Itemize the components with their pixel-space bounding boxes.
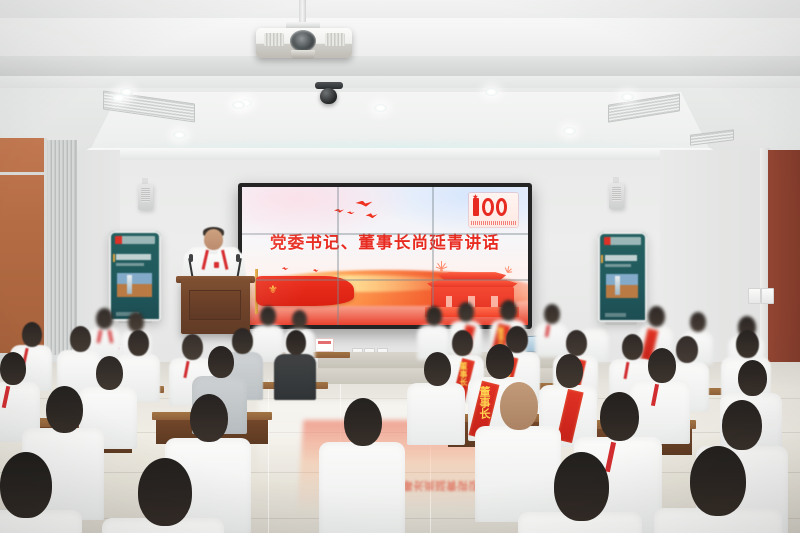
person-head	[622, 334, 643, 360]
wall-speaker	[609, 183, 624, 209]
ceiling-downlight	[120, 88, 133, 96]
banner-frame	[109, 231, 161, 321]
gate-upper-roof	[438, 272, 506, 281]
person-head	[648, 348, 676, 383]
person-head	[260, 306, 276, 326]
person-head	[486, 344, 514, 379]
ceiling-band	[0, 56, 800, 78]
person-head	[286, 330, 306, 355]
person-torso	[407, 383, 465, 445]
roll-up-banner-left	[109, 231, 161, 321]
dome-camera-icon	[320, 88, 337, 104]
person-head	[452, 330, 473, 356]
ceiling-downlight	[173, 131, 186, 139]
person-torso	[274, 354, 316, 400]
person-head	[736, 330, 759, 358]
microphone-head	[236, 254, 240, 262]
ceiling-downlight	[232, 101, 245, 109]
person-head	[344, 398, 382, 446]
person-head	[690, 312, 706, 332]
person-head	[128, 330, 149, 356]
hammer-sickle-icon: ⚜	[268, 285, 278, 296]
person-head	[0, 452, 52, 518]
person-head	[722, 400, 762, 450]
ceiling-downlight	[563, 127, 576, 135]
slide-surface: 党委书记、董事长尚延青讲话 ⚜	[242, 187, 528, 325]
person-head	[458, 302, 474, 322]
light-switch-panel[interactable]	[761, 288, 774, 304]
person-head	[648, 306, 665, 327]
person-head	[232, 328, 253, 354]
person-head	[500, 382, 538, 430]
name-card	[315, 338, 334, 352]
person-head	[96, 308, 113, 329]
person-head	[586, 310, 601, 329]
cpc-100-anniversary-logo: ★	[469, 193, 518, 228]
person-head	[190, 394, 228, 442]
flag-cloth: ⚜	[256, 276, 353, 307]
ceiling-downlight	[621, 93, 634, 101]
ceiling-downlight	[485, 88, 498, 96]
person-torso	[475, 426, 561, 522]
party-badge-icon	[214, 262, 219, 268]
roll-up-banner-right	[598, 232, 647, 322]
banner-frame	[598, 232, 647, 322]
projector-lens-shroud	[291, 50, 315, 59]
person-head	[208, 346, 234, 378]
person-head	[22, 322, 42, 347]
projector-vent	[325, 33, 345, 46]
person-head	[600, 392, 639, 441]
person-head	[96, 356, 123, 390]
dove-flock-graphic	[328, 199, 391, 218]
wood-wall-panel	[0, 138, 47, 353]
light-switch-panel[interactable]	[748, 288, 761, 304]
person-head	[128, 312, 144, 332]
microphone-head	[189, 254, 193, 262]
person-head	[138, 458, 192, 526]
person-head	[292, 310, 307, 329]
ceiling-downlight	[374, 104, 387, 112]
person-head	[556, 354, 583, 388]
logo-numeral-zero	[496, 198, 508, 216]
led-video-wall[interactable]: 党委书记、董事长尚延青讲话 ⚜	[238, 183, 532, 329]
projector-vent	[264, 33, 284, 46]
slide-title: 党委书记、董事长尚延青讲话	[242, 229, 528, 253]
person-head	[690, 446, 746, 516]
podium-front-panel	[189, 290, 241, 320]
person-head	[182, 334, 203, 360]
projector-lens-icon	[290, 30, 316, 52]
person-head	[544, 304, 560, 324]
person-head	[554, 452, 609, 521]
person-head	[424, 352, 451, 386]
person-head	[738, 360, 767, 396]
person-head	[426, 306, 442, 326]
person-head	[566, 330, 587, 356]
speaker-head	[204, 229, 223, 250]
logo-numeral-zero	[482, 198, 494, 216]
person-head	[46, 386, 83, 433]
logo-numeral-one	[473, 198, 479, 216]
ceiling-soffit	[0, 18, 800, 58]
person-head	[0, 352, 26, 385]
person-torso	[535, 323, 568, 357]
person-head	[70, 326, 91, 352]
wall-speaker	[138, 184, 153, 210]
person-torso	[630, 380, 690, 444]
conference-room-photo: 党委书记、董事长尚延青讲话 ⚜	[0, 0, 800, 533]
folding-partition	[47, 140, 77, 355]
entry-door[interactable]	[768, 150, 800, 390]
ceiling-tray-lip	[70, 148, 730, 160]
person-head	[676, 336, 698, 363]
person-torso	[319, 442, 405, 533]
person-head	[500, 300, 517, 321]
logo-caption	[471, 221, 516, 225]
